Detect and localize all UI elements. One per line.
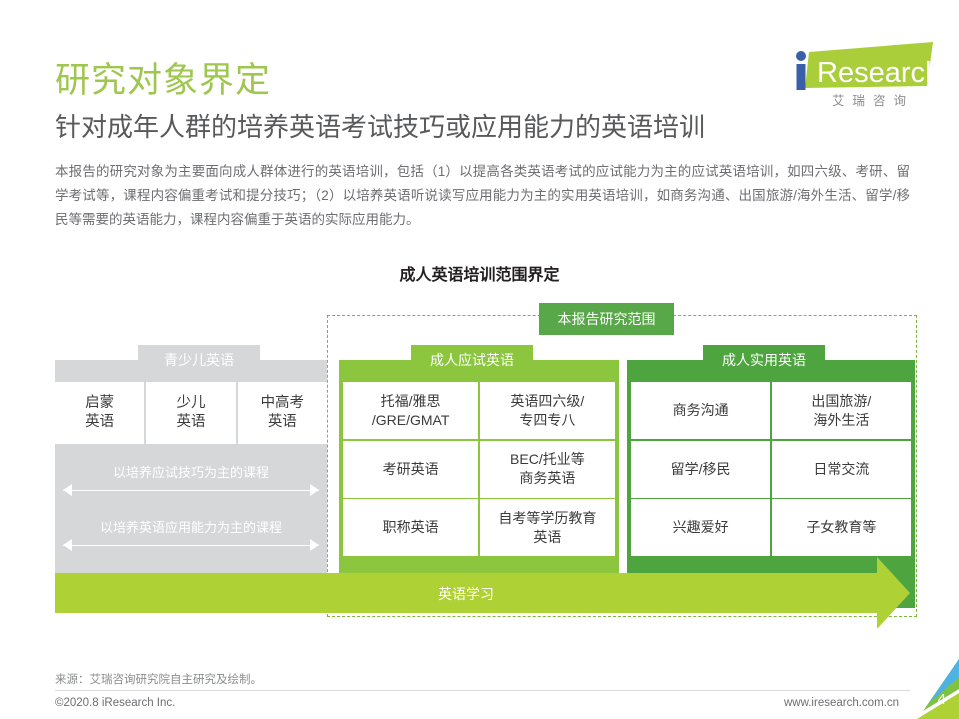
adult-exam-cell-0: 托福/雅思 /GRE/GMAT — [343, 382, 478, 439]
tab-youth-english: 青少儿英语 — [138, 345, 260, 375]
youth-cell-1: 少儿 英语 — [146, 382, 235, 444]
copyright-text: ©2020.8 iResearch Inc. — [55, 697, 175, 709]
page-number: 4 — [938, 691, 946, 708]
youth-arrow-label-1: 以培养英语应用能力为主的课程 — [63, 517, 319, 536]
english-learning-label: 英语学习 — [55, 584, 877, 604]
arrow-head-left-icon — [63, 484, 72, 496]
youth-cell-2: 中高考 英语 — [238, 382, 327, 444]
youth-english-cells: 启蒙 英语 少儿 英语 中高考 英语 — [55, 382, 327, 444]
tab-adult-exam-english: 成人应试英语 — [411, 345, 533, 375]
adult-practical-cell-0: 商务沟通 — [631, 382, 770, 439]
adult-practical-cell-2: 留学/移民 — [631, 441, 770, 498]
scope-diagram: 青少儿英语 启蒙 英语 少儿 英语 中高考 英语 以培养应试技巧为主的课程 以培… — [55, 305, 910, 625]
youth-arrow-ability: 以培养英语应用能力为主的课程 — [63, 515, 319, 567]
adult-practical-cell-1: 出国旅游/ 海外生活 — [772, 382, 911, 439]
adult-exam-cells: 托福/雅思 /GRE/GMAT 英语四六级/ 专四专八 考研英语 BEC/托业等… — [343, 382, 615, 556]
adult-exam-panel: 托福/雅思 /GRE/GMAT 英语四六级/ 专四专八 考研英语 BEC/托业等… — [339, 360, 619, 608]
arrow-line — [63, 545, 319, 546]
adult-practical-cells: 商务沟通 出国旅游/ 海外生活 留学/移民 日常交流 兴趣爱好 子女教育等 — [631, 382, 911, 556]
footer-divider — [55, 690, 910, 691]
chart-title: 成人英语培训范围界定 — [0, 261, 959, 285]
adult-practical-cell-5: 子女教育等 — [772, 499, 911, 556]
adult-exam-cell-5: 自考等学历教育 英语 — [480, 499, 615, 556]
youth-arrow-label-0: 以培养应试技巧为主的课程 — [63, 462, 319, 481]
arrow-head-left-icon — [63, 539, 72, 551]
bottom-arrow-head-icon — [877, 557, 910, 629]
youth-cell-0: 启蒙 英语 — [55, 382, 144, 444]
adult-exam-cell-3: BEC/托业等 商务英语 — [480, 441, 615, 498]
iresearch-logo: Research 艾瑞咨询 — [781, 38, 941, 110]
source-note: 来源：艾瑞咨询研究院自主研究及绘制。 — [55, 671, 262, 687]
adult-practical-cell-3: 日常交流 — [772, 441, 911, 498]
arrow-head-right-icon — [310, 484, 319, 496]
english-learning-bar: 英语学习 — [55, 573, 877, 613]
report-scope-badge: 本报告研究范围 — [539, 303, 674, 335]
slide-page: 研究对象界定 针对成年人群的培养英语考试技巧或应用能力的英语培训 本报告的研究对… — [0, 0, 959, 719]
logo-chinese-text: 艾瑞咨询 — [811, 90, 935, 109]
adult-exam-cell-1: 英语四六级/ 专四专八 — [480, 382, 615, 439]
arrow-head-right-icon — [310, 539, 319, 551]
corner-decoration — [899, 659, 959, 719]
page-title: 研究对象界定 — [55, 52, 271, 103]
tab-adult-practical-english: 成人实用英语 — [703, 345, 825, 375]
page-subtitle: 针对成年人群的培养英语考试技巧或应用能力的英语培训 — [55, 107, 705, 144]
adult-practical-cell-4: 兴趣爱好 — [631, 499, 770, 556]
intro-paragraph: 本报告的研究对象为主要面向成人群体进行的英语培训，包括（1）以提高各类英语考试的… — [55, 160, 910, 232]
website-url[interactable]: www.iresearch.com.cn — [784, 697, 899, 709]
adult-practical-panel: 商务沟通 出国旅游/ 海外生活 留学/移民 日常交流 兴趣爱好 子女教育等 以培… — [627, 360, 915, 608]
adult-exam-cell-4: 职称英语 — [343, 499, 478, 556]
arrow-line — [63, 490, 319, 491]
youth-arrow-exam-skill: 以培养应试技巧为主的课程 — [63, 460, 319, 512]
svg-text:Research: Research — [817, 57, 941, 89]
adult-exam-cell-2: 考研英语 — [343, 441, 478, 498]
